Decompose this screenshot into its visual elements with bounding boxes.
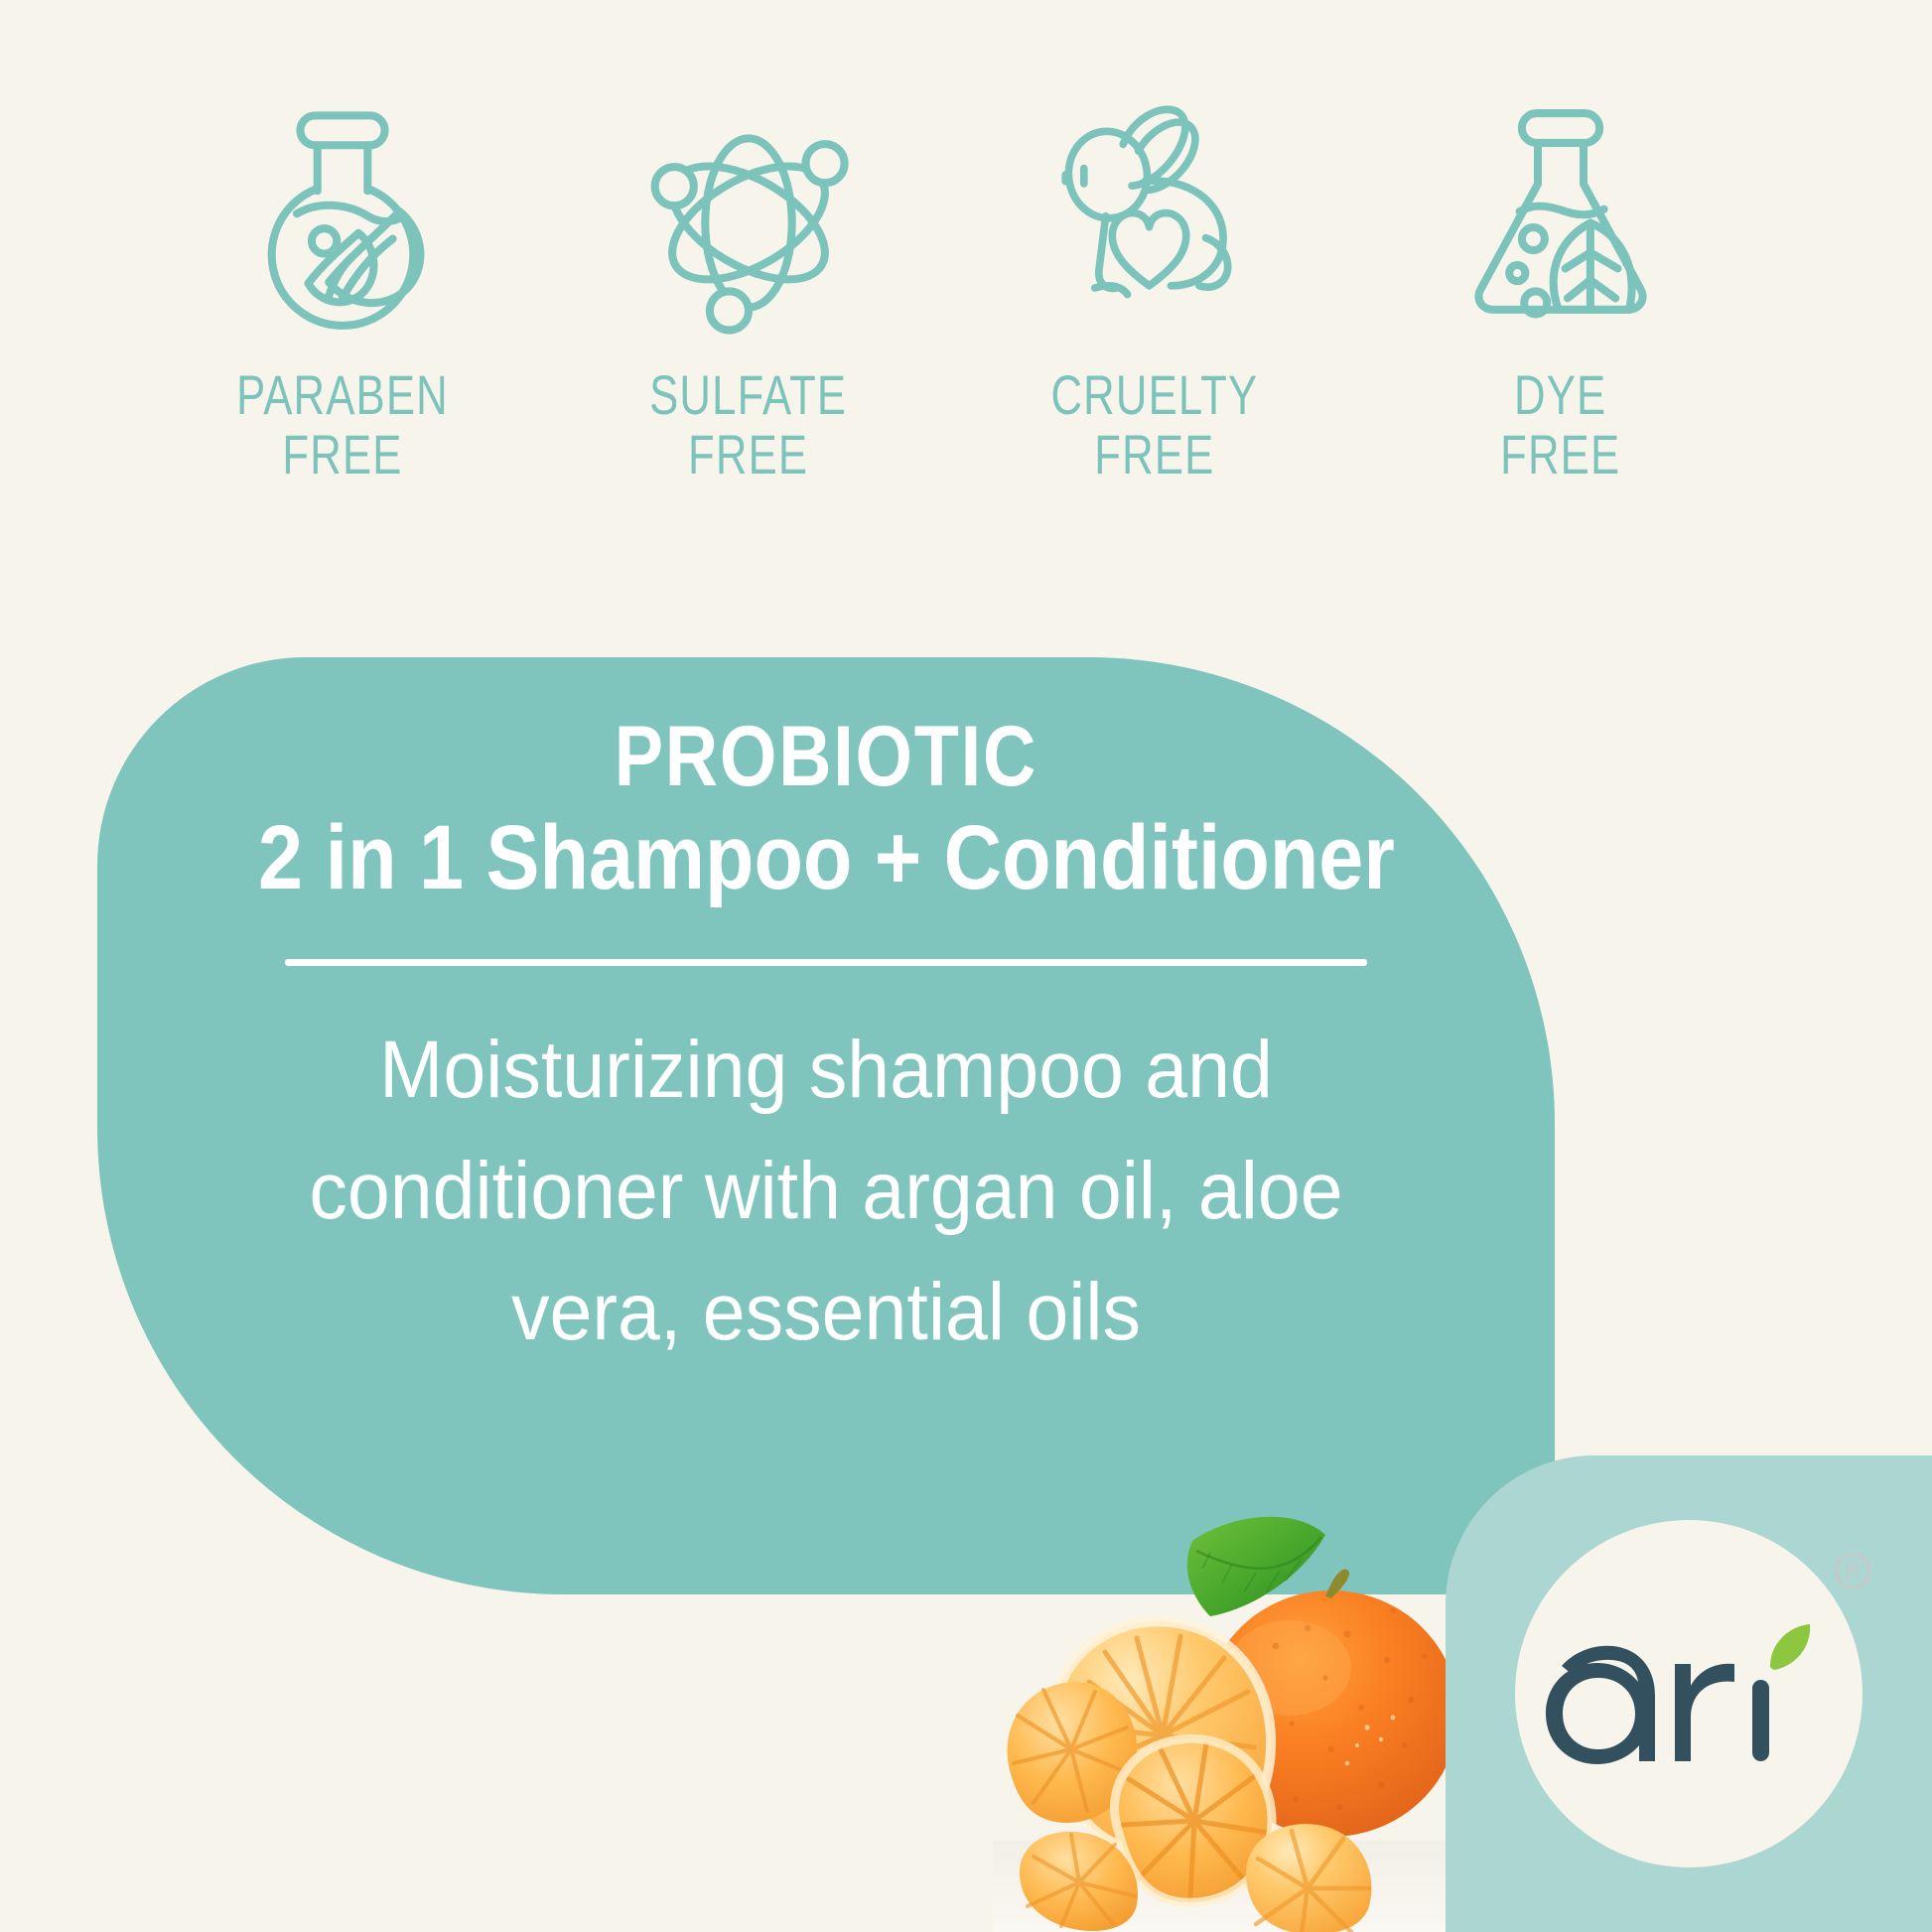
brand-logo-panel: R [1446,1455,1932,1932]
product-eyebrow: PROBIOTIC [615,709,1037,804]
registered-trademark-icon: R [1833,1551,1872,1590]
claims-badge-row: PARABEN FREE SULFATE FREE [0,95,1932,552]
round-flask-leaf-icon [228,95,457,344]
ari-wordmark [1540,1594,1838,1793]
badge-label: PARABEN FREE [236,365,449,484]
conical-flask-leaf-icon [1447,95,1675,344]
badge-sulfate-free: SULFATE FREE [545,95,951,484]
bunny-heart-icon [1040,95,1269,344]
product-description: Moisturizing shampoo and conditioner wit… [219,1010,1433,1373]
divider-rule [285,959,1367,966]
atom-icon [634,95,863,344]
badge-label: SULFATE FREE [649,365,847,484]
brand-logo-circle [1515,1520,1863,1867]
mandarin-orange-image [998,1479,1474,1932]
product-headline: 2 in 1 Shampoo + Conditioner [258,806,1395,909]
badge-cruelty-free: CRUELTY FREE [951,95,1357,484]
badge-paraben-free: PARABEN FREE [139,95,545,484]
product-info-panel: PROBIOTIC 2 in 1 Shampoo + Conditioner M… [97,657,1555,1594]
badge-dye-free: DYE FREE [1357,95,1763,484]
svg-text:R: R [1846,1562,1860,1584]
badge-label: DYE FREE [1500,365,1620,484]
badge-label: CRUELTY FREE [1050,365,1258,484]
leaf-accent-icon [1770,1624,1810,1670]
